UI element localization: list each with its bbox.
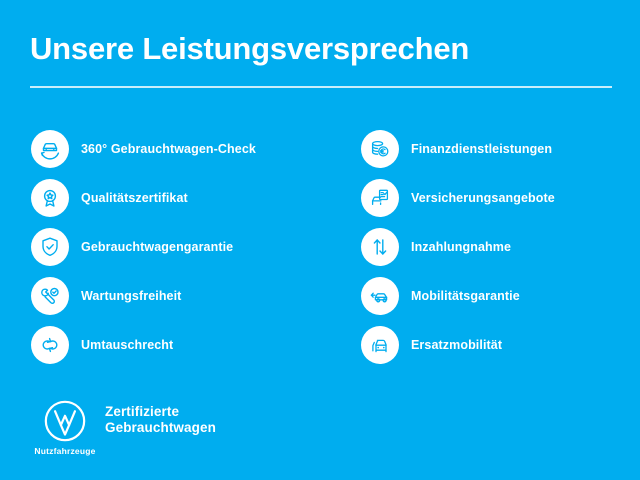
title-divider: [30, 86, 612, 88]
promise-label: Qualitätszertifikat: [81, 191, 188, 205]
tow-van-icon: [361, 277, 399, 315]
promises-panel: Unsere Leistungsversprechen 360° Gebrauc…: [0, 0, 640, 480]
promise-item[interactable]: Ersatzmobilität: [361, 320, 640, 369]
promise-label: Gebrauchtwagengarantie: [81, 240, 233, 254]
promise-item[interactable]: Gebrauchtwagengarantie: [31, 222, 311, 271]
replacement-car-icon: [361, 326, 399, 364]
wrench-check-icon: [31, 277, 69, 315]
brand-tagline-line2: Gebrauchtwagen: [105, 420, 216, 436]
promise-label: Versicherungsangebote: [411, 191, 555, 205]
promise-item[interactable]: 360° Gebrauchtwagen-Check: [31, 124, 311, 173]
promise-label: Ersatzmobilität: [411, 338, 502, 352]
car-document-icon: [361, 179, 399, 217]
promise-label: Umtauschrecht: [81, 338, 173, 352]
promise-item[interactable]: Versicherungsangebote: [361, 173, 640, 222]
promise-label: 360° Gebrauchtwagen-Check: [81, 142, 256, 156]
shield-check-icon: [31, 228, 69, 266]
promise-item[interactable]: Inzahlungnahme: [361, 222, 640, 271]
up-down-arrows-icon: [361, 228, 399, 266]
award-seal-icon: [31, 179, 69, 217]
promise-item[interactable]: Mobilitätsgarantie: [361, 271, 640, 320]
promise-column-left: 360° Gebrauchtwagen-Check Qualitätszerti…: [31, 124, 311, 369]
promise-item[interactable]: Qualitätszertifikat: [31, 173, 311, 222]
brand-tagline: Zertifizierte Gebrauchtwagen: [105, 404, 216, 436]
brand-footer: Nutzfahrzeuge Zertifizierte Gebrauchtwag…: [31, 398, 331, 468]
brand-sub-label: Nutzfahrzeuge: [33, 446, 97, 456]
promise-label: Finanzdienstleistungen: [411, 142, 552, 156]
promise-item[interactable]: Finanzdienstleistungen: [361, 124, 640, 173]
promise-label: Wartungsfreiheit: [81, 289, 181, 303]
page-title: Unsere Leistungsversprechen: [30, 31, 469, 67]
promise-column-right: Finanzdienstleistungen Versicherungsange…: [361, 124, 640, 369]
exchange-arrows-icon: [31, 326, 69, 364]
promise-item[interactable]: Wartungsfreiheit: [31, 271, 311, 320]
promise-label: Inzahlungnahme: [411, 240, 511, 254]
brand-tagline-line1: Zertifizierte: [105, 404, 216, 420]
coins-euro-icon: [361, 130, 399, 168]
promise-item[interactable]: Umtauschrecht: [31, 320, 311, 369]
car-check-icon: [31, 130, 69, 168]
brand-logo-group: Nutzfahrzeuge: [33, 398, 97, 456]
promise-label: Mobilitätsgarantie: [411, 289, 520, 303]
volkswagen-logo: [42, 398, 88, 444]
